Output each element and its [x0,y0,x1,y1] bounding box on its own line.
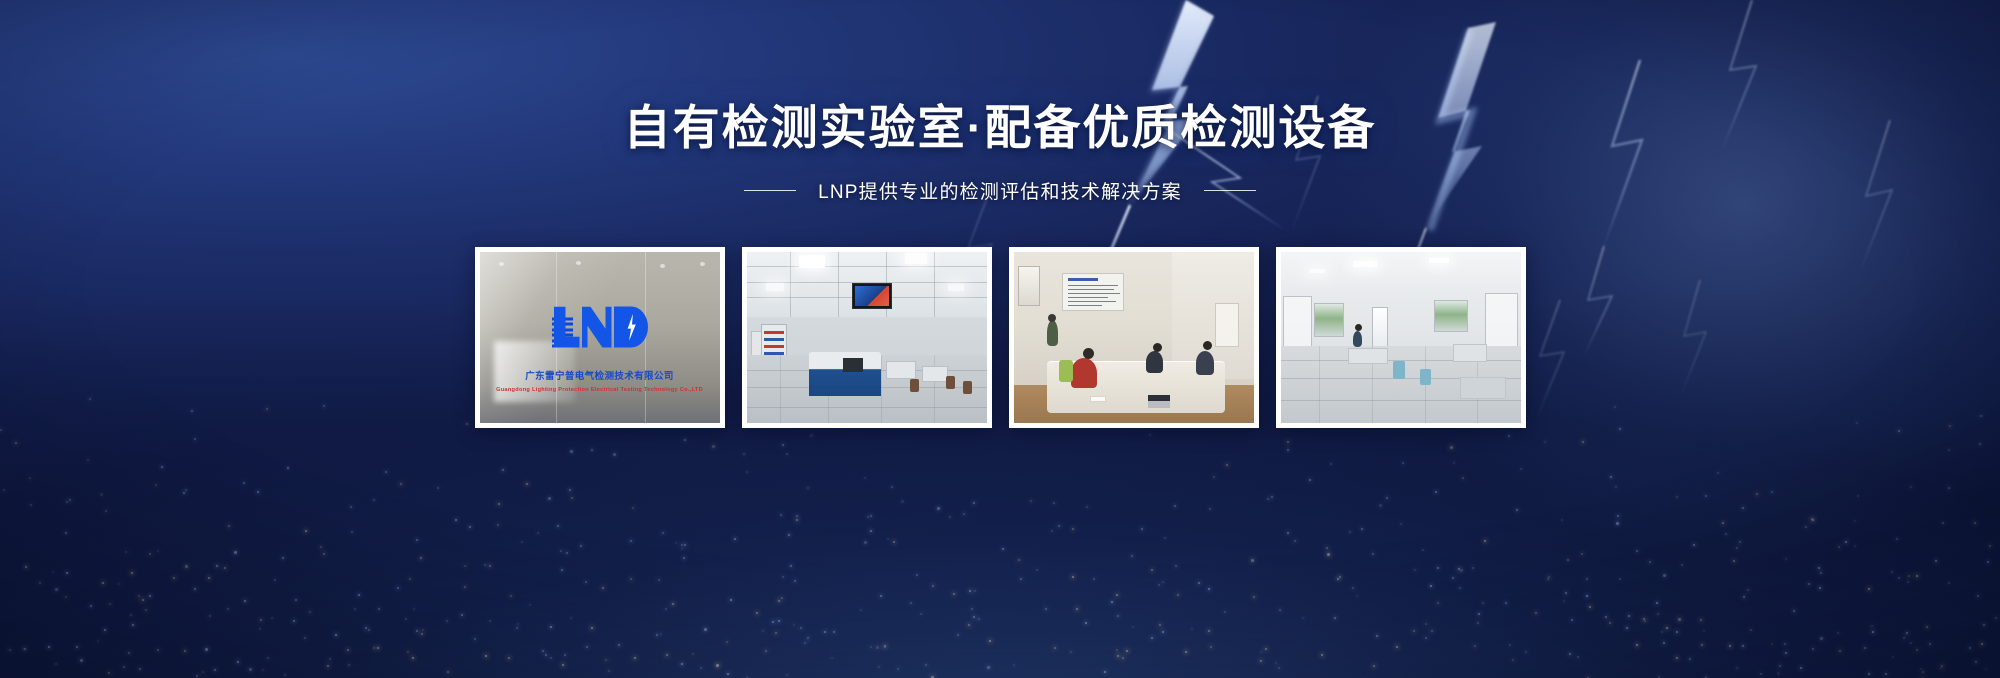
chair-green [1059,360,1073,382]
person-head [1153,343,1162,352]
page-title: 自有检测实验室·配备优质检测设备 [0,100,2000,155]
photo-meeting-room [1014,252,1254,423]
hero-banner: 自有检测实验室·配备优质检测设备 LNP提供专业的检测评估和技术解决方案 [0,0,2000,678]
wall-fixing-pin [499,262,504,266]
ceiling-light [766,283,784,291]
photo-testing-laboratory [747,252,987,423]
work-table [886,361,916,379]
company-name-en: Guangdong Lighting Protection Electrical… [496,387,703,393]
wall-fixing-pin [660,264,665,268]
gallery-card-laboratory[interactable] [742,247,992,428]
person-head [1083,348,1094,359]
hero-text-block: 自有检测实验室·配备优质检测设备 LNP提供专业的检测评估和技术解决方案 [0,100,2000,204]
company-name-cn: 广东雷宁普电气检测技术有限公司 [525,368,674,382]
photo-office-area [1281,252,1521,423]
person-seated [1353,331,1362,347]
gallery-card-office[interactable] [1276,247,1526,428]
page-subtitle: LNP提供专业的检测评估和技术解决方案 [818,177,1182,204]
subtitle-row: LNP提供专业的检测评估和技术解决方案 [0,177,2000,204]
person-head [1203,341,1212,350]
ceiling-light [1309,269,1325,273]
ceiling-light [948,284,964,291]
work-table [922,366,948,382]
desk [1453,344,1487,362]
chair [946,376,955,389]
person-seated [1146,351,1163,373]
photo-gallery: 广东雷宁普电气检测技术有限公司 Guangdong Lighting Prote… [0,247,2000,428]
person-seated [1071,358,1097,388]
lnp-logo-icon [552,307,648,348]
chair [910,379,919,392]
door [1372,307,1388,347]
wall-fixing-pin [576,261,581,265]
logo-letter-p [614,307,648,348]
chair [1420,369,1431,385]
rule-left-decoration [744,190,796,191]
person-seated [1196,351,1214,375]
ceiling-light [905,253,927,264]
chair [963,381,972,394]
reception-counter [1460,377,1506,399]
ceiling-light [1353,261,1377,267]
person-head [1048,314,1056,322]
bench-monitor [843,358,863,372]
projector-screen [1062,273,1124,311]
window [1314,303,1344,337]
window [1434,300,1468,332]
person-head [1355,324,1362,331]
gallery-card-meeting-room[interactable] [1009,247,1259,428]
ceiling-light [1429,258,1449,263]
photo-company-signboard: 广东雷宁普电气检测技术有限公司 Guangdong Lighting Prote… [480,252,720,423]
wall-monitor [852,283,892,309]
wall-fixing-pin [700,262,705,266]
window [1018,266,1040,306]
laptop [1148,395,1170,408]
documents [1090,396,1106,402]
chair [1393,361,1405,379]
cabinet [1215,303,1239,347]
person-standing [1047,320,1058,346]
logo-letter-n [582,307,612,348]
desk [1348,348,1388,364]
ceiling-light [799,255,825,268]
gallery-card-signboard[interactable]: 广东雷宁普电气检测技术有限公司 Guangdong Lighting Prote… [475,247,725,428]
rule-right-decoration [1204,190,1256,191]
